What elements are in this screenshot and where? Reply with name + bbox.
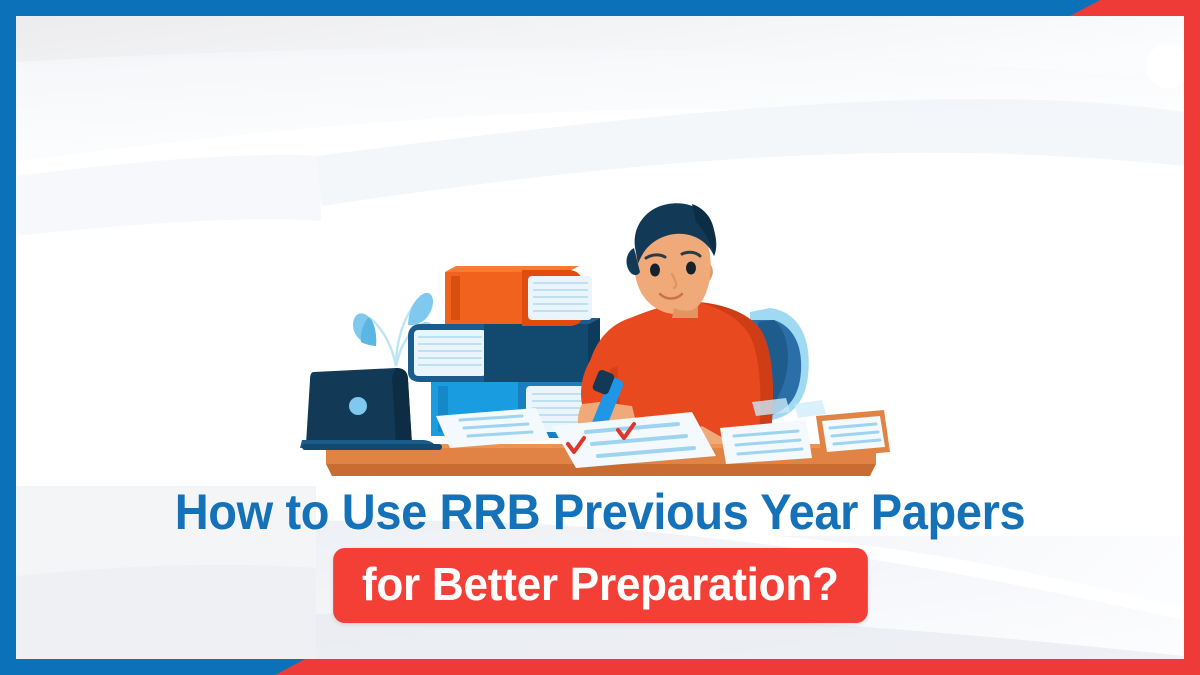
headline-badge-row: for Better Preparation? — [16, 548, 1184, 623]
headline-badge: for Better Preparation? — [333, 548, 867, 623]
banner-root: How to Use RRB Previous Year Papers for … — [0, 0, 1200, 675]
headline-block: How to Use RRB Previous Year Papers for … — [16, 486, 1184, 623]
banner-canvas: How to Use RRB Previous Year Papers for … — [16, 16, 1184, 659]
book-top — [445, 266, 592, 326]
book-middle — [408, 318, 600, 382]
student-studying-illustration — [300, 190, 900, 490]
headline-line-1: How to Use RRB Previous Year Papers — [51, 486, 1149, 538]
student-head — [627, 203, 717, 318]
